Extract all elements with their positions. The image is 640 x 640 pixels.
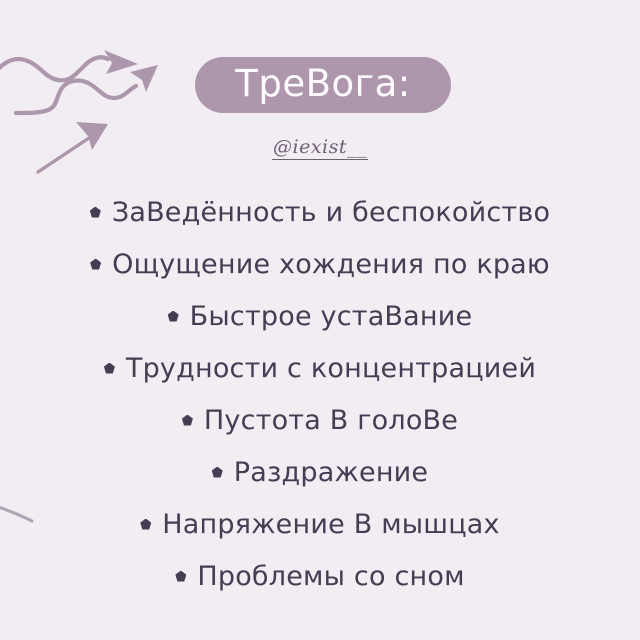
list-item: Трудности с концентрацией xyxy=(0,342,640,394)
list-item-label: Пустота В голоВе xyxy=(204,407,458,434)
pentagon-bullet-icon xyxy=(182,415,193,426)
list-item-label: Проблемы со сном xyxy=(197,563,464,590)
pentagon-bullet-icon xyxy=(104,363,115,374)
list-item-label: ЗаВедённость и беспокойство xyxy=(112,199,550,226)
list-item-label: Ощущение хождения по краю xyxy=(112,251,550,278)
pentagon-bullet-icon xyxy=(90,207,101,218)
wavy-arrow-upper-icon xyxy=(0,50,138,80)
list-item: Быстрое устаВание xyxy=(0,290,640,342)
list-item: ЗаВедённость и беспокойство xyxy=(0,186,640,238)
page-title: ТреВога: xyxy=(235,65,410,105)
list-item: Ощущение хождения по краю xyxy=(0,238,640,290)
wavy-arrow-lower-icon xyxy=(16,65,158,113)
title-pill: ТреВога: xyxy=(195,57,451,113)
list-item-label: Быстрое устаВание xyxy=(190,303,473,330)
list-item-label: Трудности с концентрацией xyxy=(126,355,536,382)
pentagon-bullet-icon xyxy=(212,467,223,478)
author-handle-label: @iexist__ xyxy=(272,138,368,160)
pentagon-bullet-icon xyxy=(168,311,179,322)
pentagon-bullet-icon xyxy=(140,519,151,530)
symptom-list: ЗаВедённость и беспокойство Ощущение хож… xyxy=(0,186,640,602)
pentagon-bullet-icon xyxy=(90,259,101,270)
pentagon-bullet-icon xyxy=(175,571,186,582)
list-item: Пустота В голоВе xyxy=(0,394,640,446)
list-item: Напряжение В мышцах xyxy=(0,498,640,550)
list-item: Раздражение xyxy=(0,446,640,498)
list-item-label: Напряжение В мышцах xyxy=(162,511,499,538)
list-item-label: Раздражение xyxy=(234,459,428,486)
author-handle: @iexist__ xyxy=(0,138,640,160)
list-item: Проблемы со сном xyxy=(0,550,640,602)
anxiety-symptoms-poster: ТреВога: @iexist__ ЗаВедённость и беспок… xyxy=(0,0,640,640)
